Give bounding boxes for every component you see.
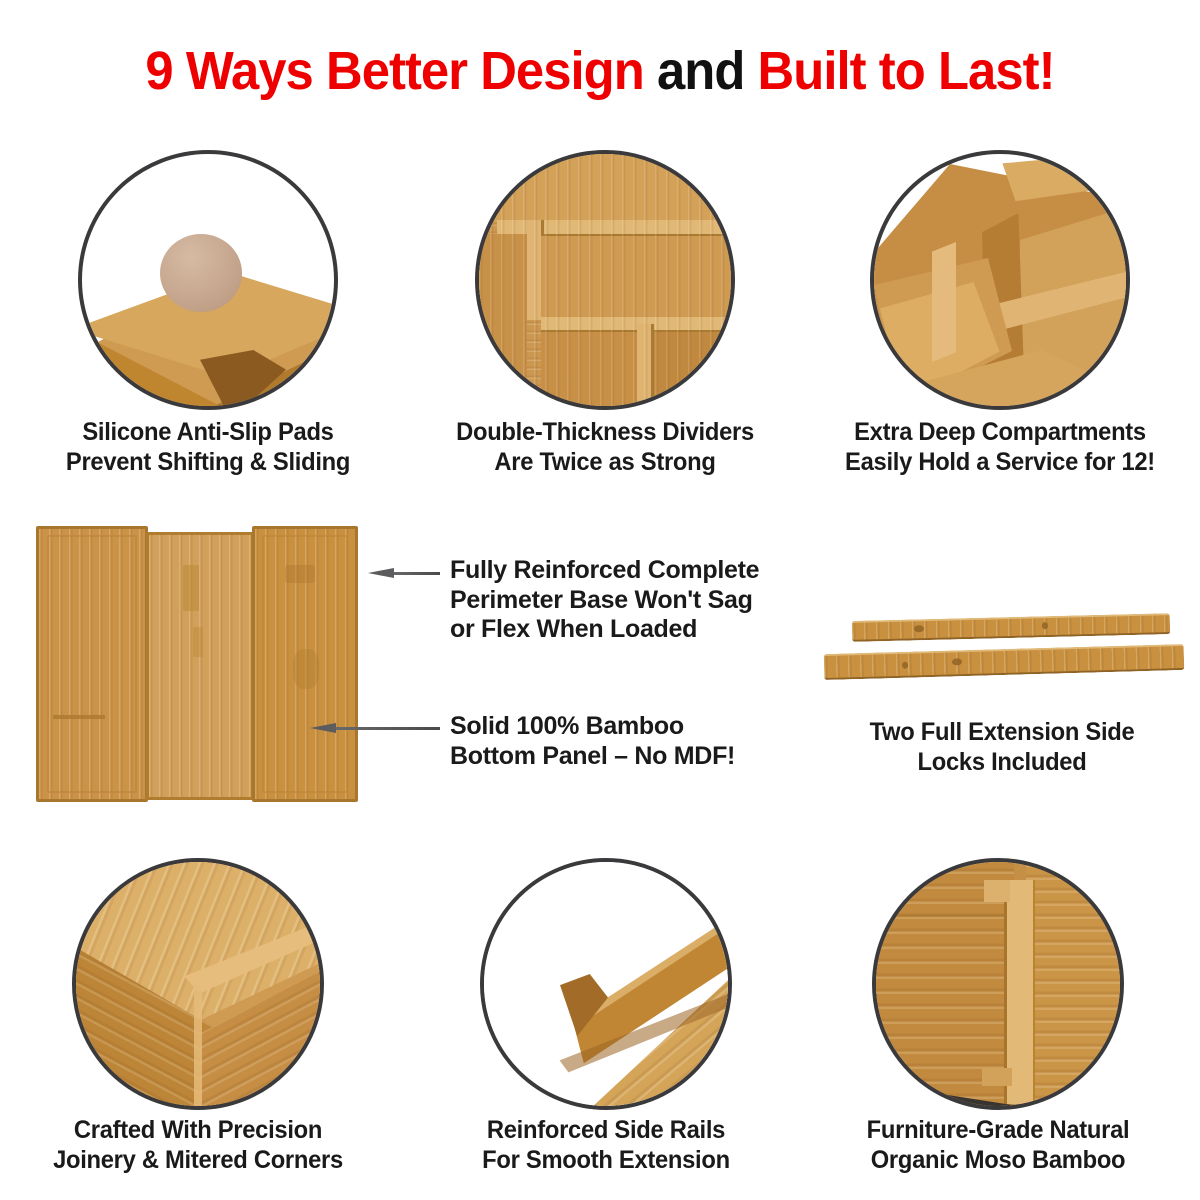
circle-photo-moso-bamboo: [872, 858, 1124, 1110]
caption-bottom-panel: Solid 100% Bamboo Bottom Panel – No MDF!: [450, 712, 780, 771]
caption-side-rails: Reinforced Side Rails For Smooth Extensi…: [433, 1116, 779, 1175]
caption-silicone-pads: Silicone Anti-Slip Pads Prevent Shifting…: [37, 418, 379, 477]
circle-photo-silicone-pads: [78, 150, 338, 410]
title-part-red-2: Built to Last!: [758, 41, 1055, 101]
side-lock-slat-upper: [852, 613, 1170, 642]
feature-precision-joinery: Crafted With Precision Joinery & Mitered…: [72, 858, 324, 1110]
circle-photo-deep-compartments: [870, 150, 1130, 410]
caption-side-locks: Two Full Extension Side Locks Included: [822, 718, 1183, 777]
infographic-page: 9 Ways Better Design and Built to Last! …: [0, 0, 1200, 1200]
title-part-red-1: 9 Ways Better Design: [145, 41, 657, 101]
feature-double-thickness-dividers: Double-Thickness Dividers Are Twice as S…: [475, 150, 735, 410]
circle-photo-side-rails: [480, 858, 732, 1110]
side-lock-slat-lower: [824, 644, 1185, 680]
caption-perimeter-base: Fully Reinforced Complete Perimeter Base…: [450, 556, 780, 645]
caption-joinery: Crafted With Precision Joinery & Mitered…: [25, 1116, 371, 1175]
feature-reinforced-side-rails: Reinforced Side Rails For Smooth Extensi…: [480, 858, 732, 1110]
feature-extra-deep-compartments: Extra Deep Compartments Easily Hold a Se…: [870, 150, 1130, 410]
circle-photo-joinery: [72, 858, 324, 1110]
base-panel-photo: [36, 518, 358, 806]
caption-dividers: Double-Thickness Dividers Are Twice as S…: [434, 418, 776, 477]
silicone-pad-disc: [160, 234, 242, 312]
title-part-black: and: [657, 41, 758, 101]
arrow-to-bottom-panel: [310, 723, 440, 733]
panel-center-section: [146, 532, 254, 800]
feature-moso-bamboo: Furniture-Grade Natural Organic Moso Bam…: [872, 858, 1124, 1110]
circle-photo-dividers: [475, 150, 735, 410]
arrow-to-perimeter-base: [368, 568, 440, 578]
page-title: 9 Ways Better Design and Built to Last!: [36, 40, 1164, 102]
panel-left-section: [36, 526, 148, 802]
feature-side-locks: [810, 600, 1200, 720]
feature-silicone-pads: Silicone Anti-Slip Pads Prevent Shifting…: [78, 150, 338, 410]
panel-right-section: [252, 526, 358, 802]
caption-moso-bamboo: Furniture-Grade Natural Organic Moso Bam…: [825, 1116, 1171, 1175]
caption-deep-compartments: Extra Deep Compartments Easily Hold a Se…: [827, 418, 1173, 477]
